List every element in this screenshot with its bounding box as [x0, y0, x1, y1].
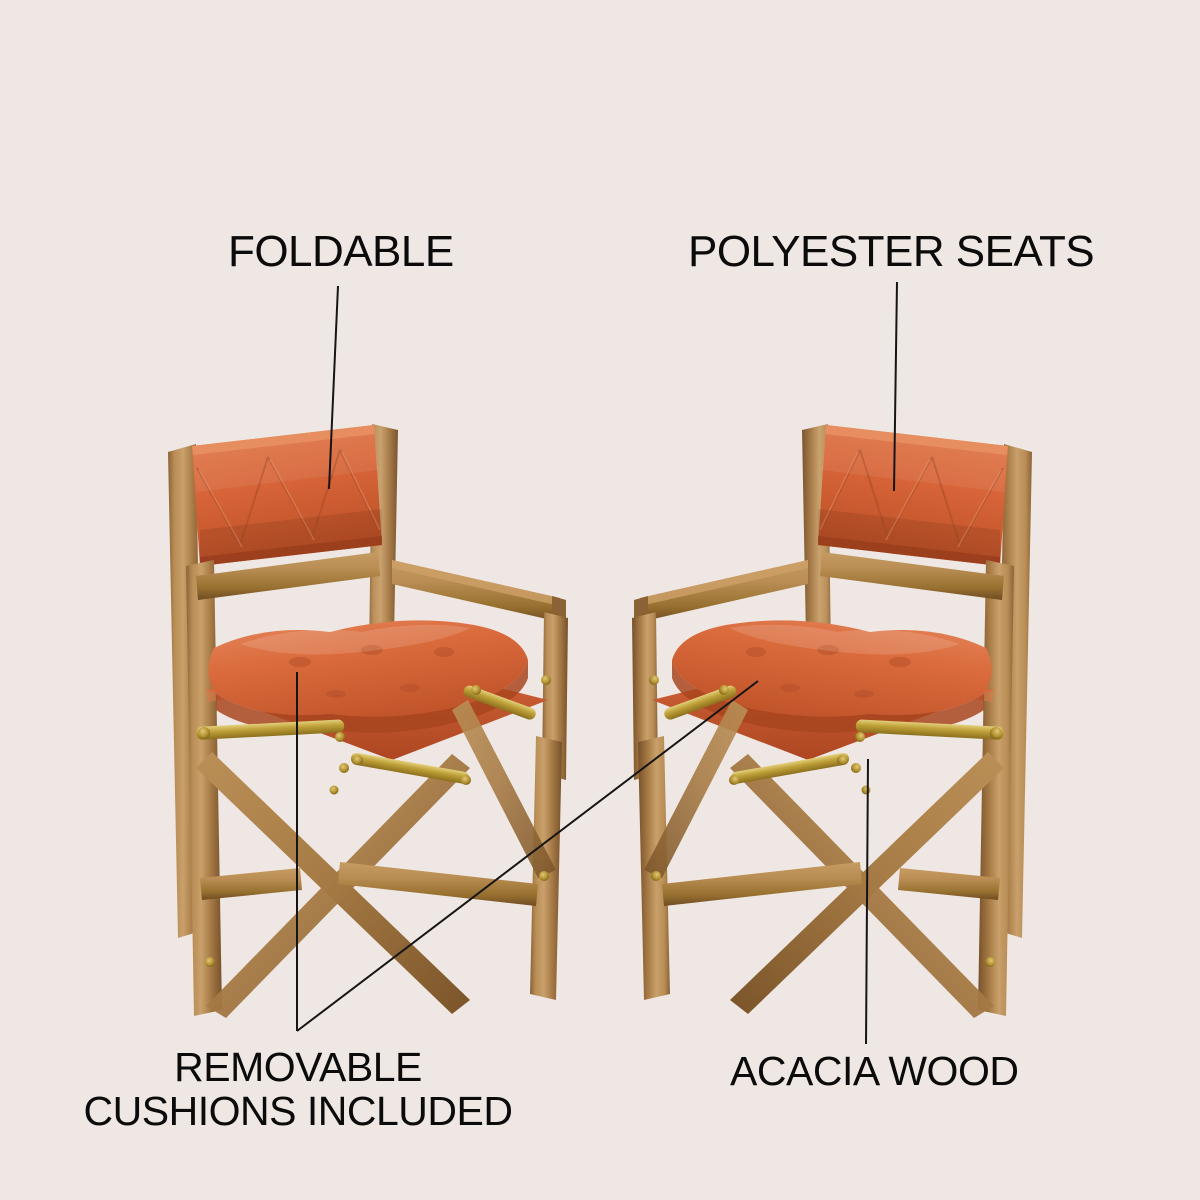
callout-label-polyester-seats: POLYESTER SEATS: [688, 228, 1094, 275]
chairs-illustration: [0, 0, 1200, 1200]
chair-right: [632, 424, 1032, 1018]
backrest-cushion-left: [192, 425, 382, 566]
chair-left: [168, 424, 568, 1018]
backrest-cushion-right: [818, 425, 1008, 566]
product-feature-image: FOLDABLE POLYESTER SEATS REMOVABLE CUSHI…: [0, 0, 1200, 1200]
callout-label-removable-cushions: REMOVABLE CUSHIONS INCLUDED: [0, 1046, 596, 1134]
callout-label-foldable: FOLDABLE: [228, 228, 454, 275]
callout-label-acacia-wood: ACACIA WOOD: [730, 1050, 1018, 1094]
